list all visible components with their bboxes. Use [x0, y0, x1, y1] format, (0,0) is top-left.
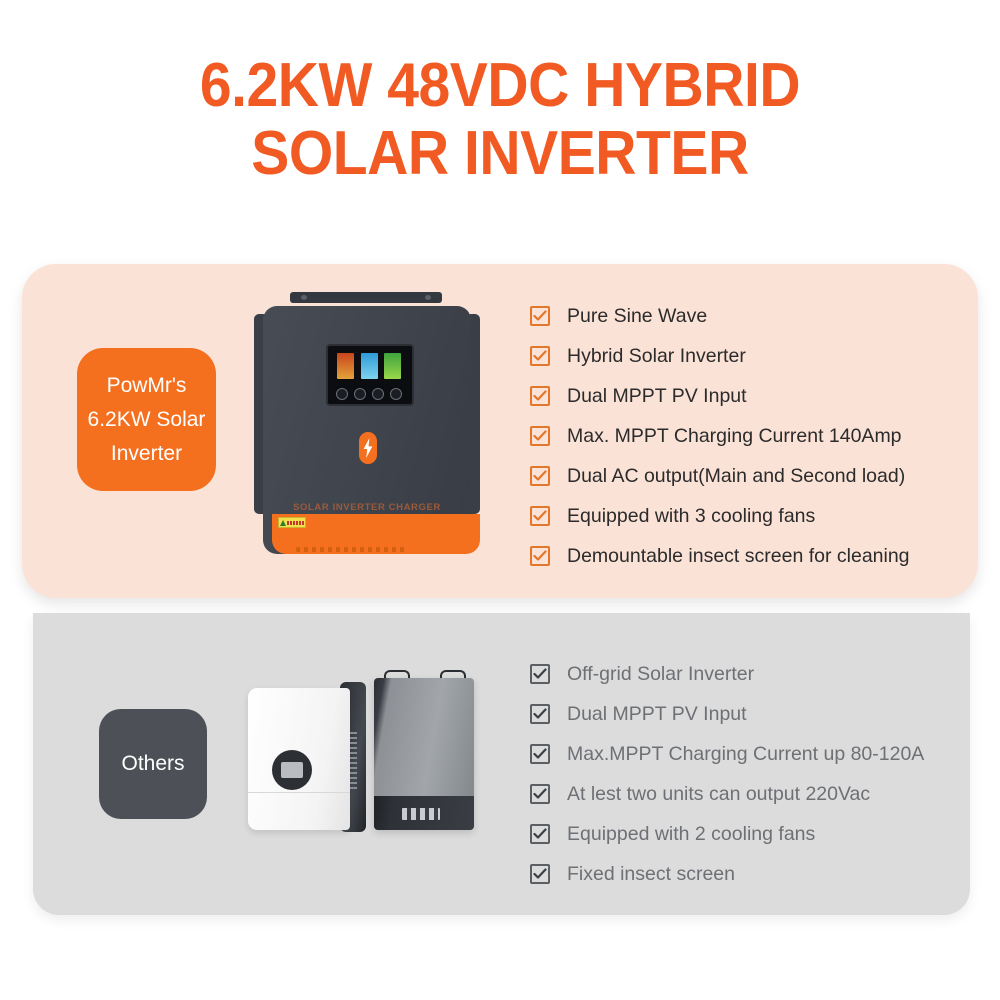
competitor-gray-inverter [374, 678, 474, 830]
powmr-badge: PowMr's 6.2KW Solar Inverter [77, 348, 216, 491]
feature-label: Fixed insect screen [567, 863, 735, 886]
feature-label: Hybrid Solar Inverter [567, 345, 746, 368]
page-title-line-1: 6.2KW 48VDC HYBRID [40, 52, 960, 120]
feature-item: Equipped with 2 cooling fans [530, 814, 924, 854]
checkbox-checked-icon [530, 506, 550, 526]
inverter-mount-bracket [290, 292, 442, 303]
powmr-badge-label: PowMr's 6.2KW Solar Inverter [77, 369, 216, 471]
feature-label: Off-grid Solar Inverter [567, 663, 754, 686]
checkbox-checked-icon [530, 664, 550, 684]
caution-stripes [287, 521, 304, 525]
checkbox-checked-icon [530, 346, 550, 366]
checkbox-checked-icon [530, 386, 550, 406]
feature-item: Demountable insect screen for cleaning [530, 536, 910, 576]
lcd-button-2 [354, 388, 366, 400]
lcd-load-icon [384, 353, 401, 379]
feature-label: Equipped with 2 cooling fans [567, 823, 815, 846]
competitor-white-seam [248, 792, 350, 793]
checkbox-checked-icon [530, 784, 550, 804]
feature-label: Dual MPPT PV Input [567, 385, 747, 408]
powmr-inverter-image: SOLAR INVERTER CHARGER [254, 292, 480, 562]
checkbox-checked-icon [530, 426, 550, 446]
others-badge: Others [99, 709, 207, 819]
lcd-status-icons [337, 353, 401, 379]
caution-label-icon [278, 517, 306, 528]
feature-item: Fixed insect screen [530, 854, 924, 894]
feature-item: At lest two units can output 220Vac [530, 774, 924, 814]
inverter-body: SOLAR INVERTER CHARGER [263, 306, 471, 554]
feature-item: Max. MPPT Charging Current 140Amp [530, 416, 910, 456]
page-title-line-2: SOLAR INVERTER [40, 120, 960, 188]
feature-label: Dual AC output(Main and Second load) [567, 465, 905, 488]
powmr-feature-list: Pure Sine Wave Hybrid Solar Inverter Dua… [530, 296, 910, 576]
checkbox-checked-icon [530, 704, 550, 724]
inverter-brand-text: SOLAR INVERTER CHARGER [263, 502, 471, 513]
lcd-battery-icon [361, 353, 378, 379]
checkbox-checked-icon [530, 864, 550, 884]
others-badge-label: Others [115, 750, 190, 778]
inverter-vent-slots [296, 547, 406, 552]
lcd-button-4 [390, 388, 402, 400]
lcd-button-row [336, 388, 402, 398]
others-product-image [248, 668, 488, 848]
feature-item: Dual AC output(Main and Second load) [530, 456, 910, 496]
lightning-bolt-icon [359, 432, 377, 464]
page-title: 6.2KW 48VDC HYBRID SOLAR INVERTER [0, 52, 1000, 188]
competitor-white-display [272, 750, 312, 790]
warning-triangle-icon [280, 520, 286, 526]
feature-item: Dual MPPT PV Input [530, 694, 924, 734]
feature-label: Dual MPPT PV Input [567, 703, 747, 726]
feature-label: At lest two units can output 220Vac [567, 783, 870, 806]
feature-label: Demountable insect screen for cleaning [567, 545, 910, 568]
checkbox-checked-icon [530, 744, 550, 764]
competitor-white-inverter [248, 688, 350, 830]
feature-item: Max.MPPT Charging Current up 80-120A [530, 734, 924, 774]
competitor-white-display-screen [281, 762, 303, 778]
lcd-solar-icon [337, 353, 354, 379]
feature-item: Pure Sine Wave [530, 296, 910, 336]
feature-label: Max.MPPT Charging Current up 80-120A [567, 743, 924, 766]
competitor-gray-ports [402, 808, 440, 820]
checkbox-checked-icon [530, 546, 550, 566]
feature-item: Equipped with 3 cooling fans [530, 496, 910, 536]
feature-item: Dual MPPT PV Input [530, 376, 910, 416]
feature-label: Pure Sine Wave [567, 305, 707, 328]
checkbox-checked-icon [530, 306, 550, 326]
feature-item: Off-grid Solar Inverter [530, 654, 924, 694]
others-feature-list: Off-grid Solar Inverter Dual MPPT PV Inp… [530, 654, 924, 894]
feature-label: Equipped with 3 cooling fans [567, 505, 815, 528]
feature-label: Max. MPPT Charging Current 140Amp [567, 425, 902, 448]
lcd-button-3 [372, 388, 384, 400]
lcd-button-1 [336, 388, 348, 400]
checkbox-checked-icon [530, 824, 550, 844]
competitor-gray-base [374, 796, 474, 830]
checkbox-checked-icon [530, 466, 550, 486]
inverter-orange-band [272, 514, 480, 554]
inverter-lcd-screen [326, 344, 414, 406]
feature-item: Hybrid Solar Inverter [530, 336, 910, 376]
